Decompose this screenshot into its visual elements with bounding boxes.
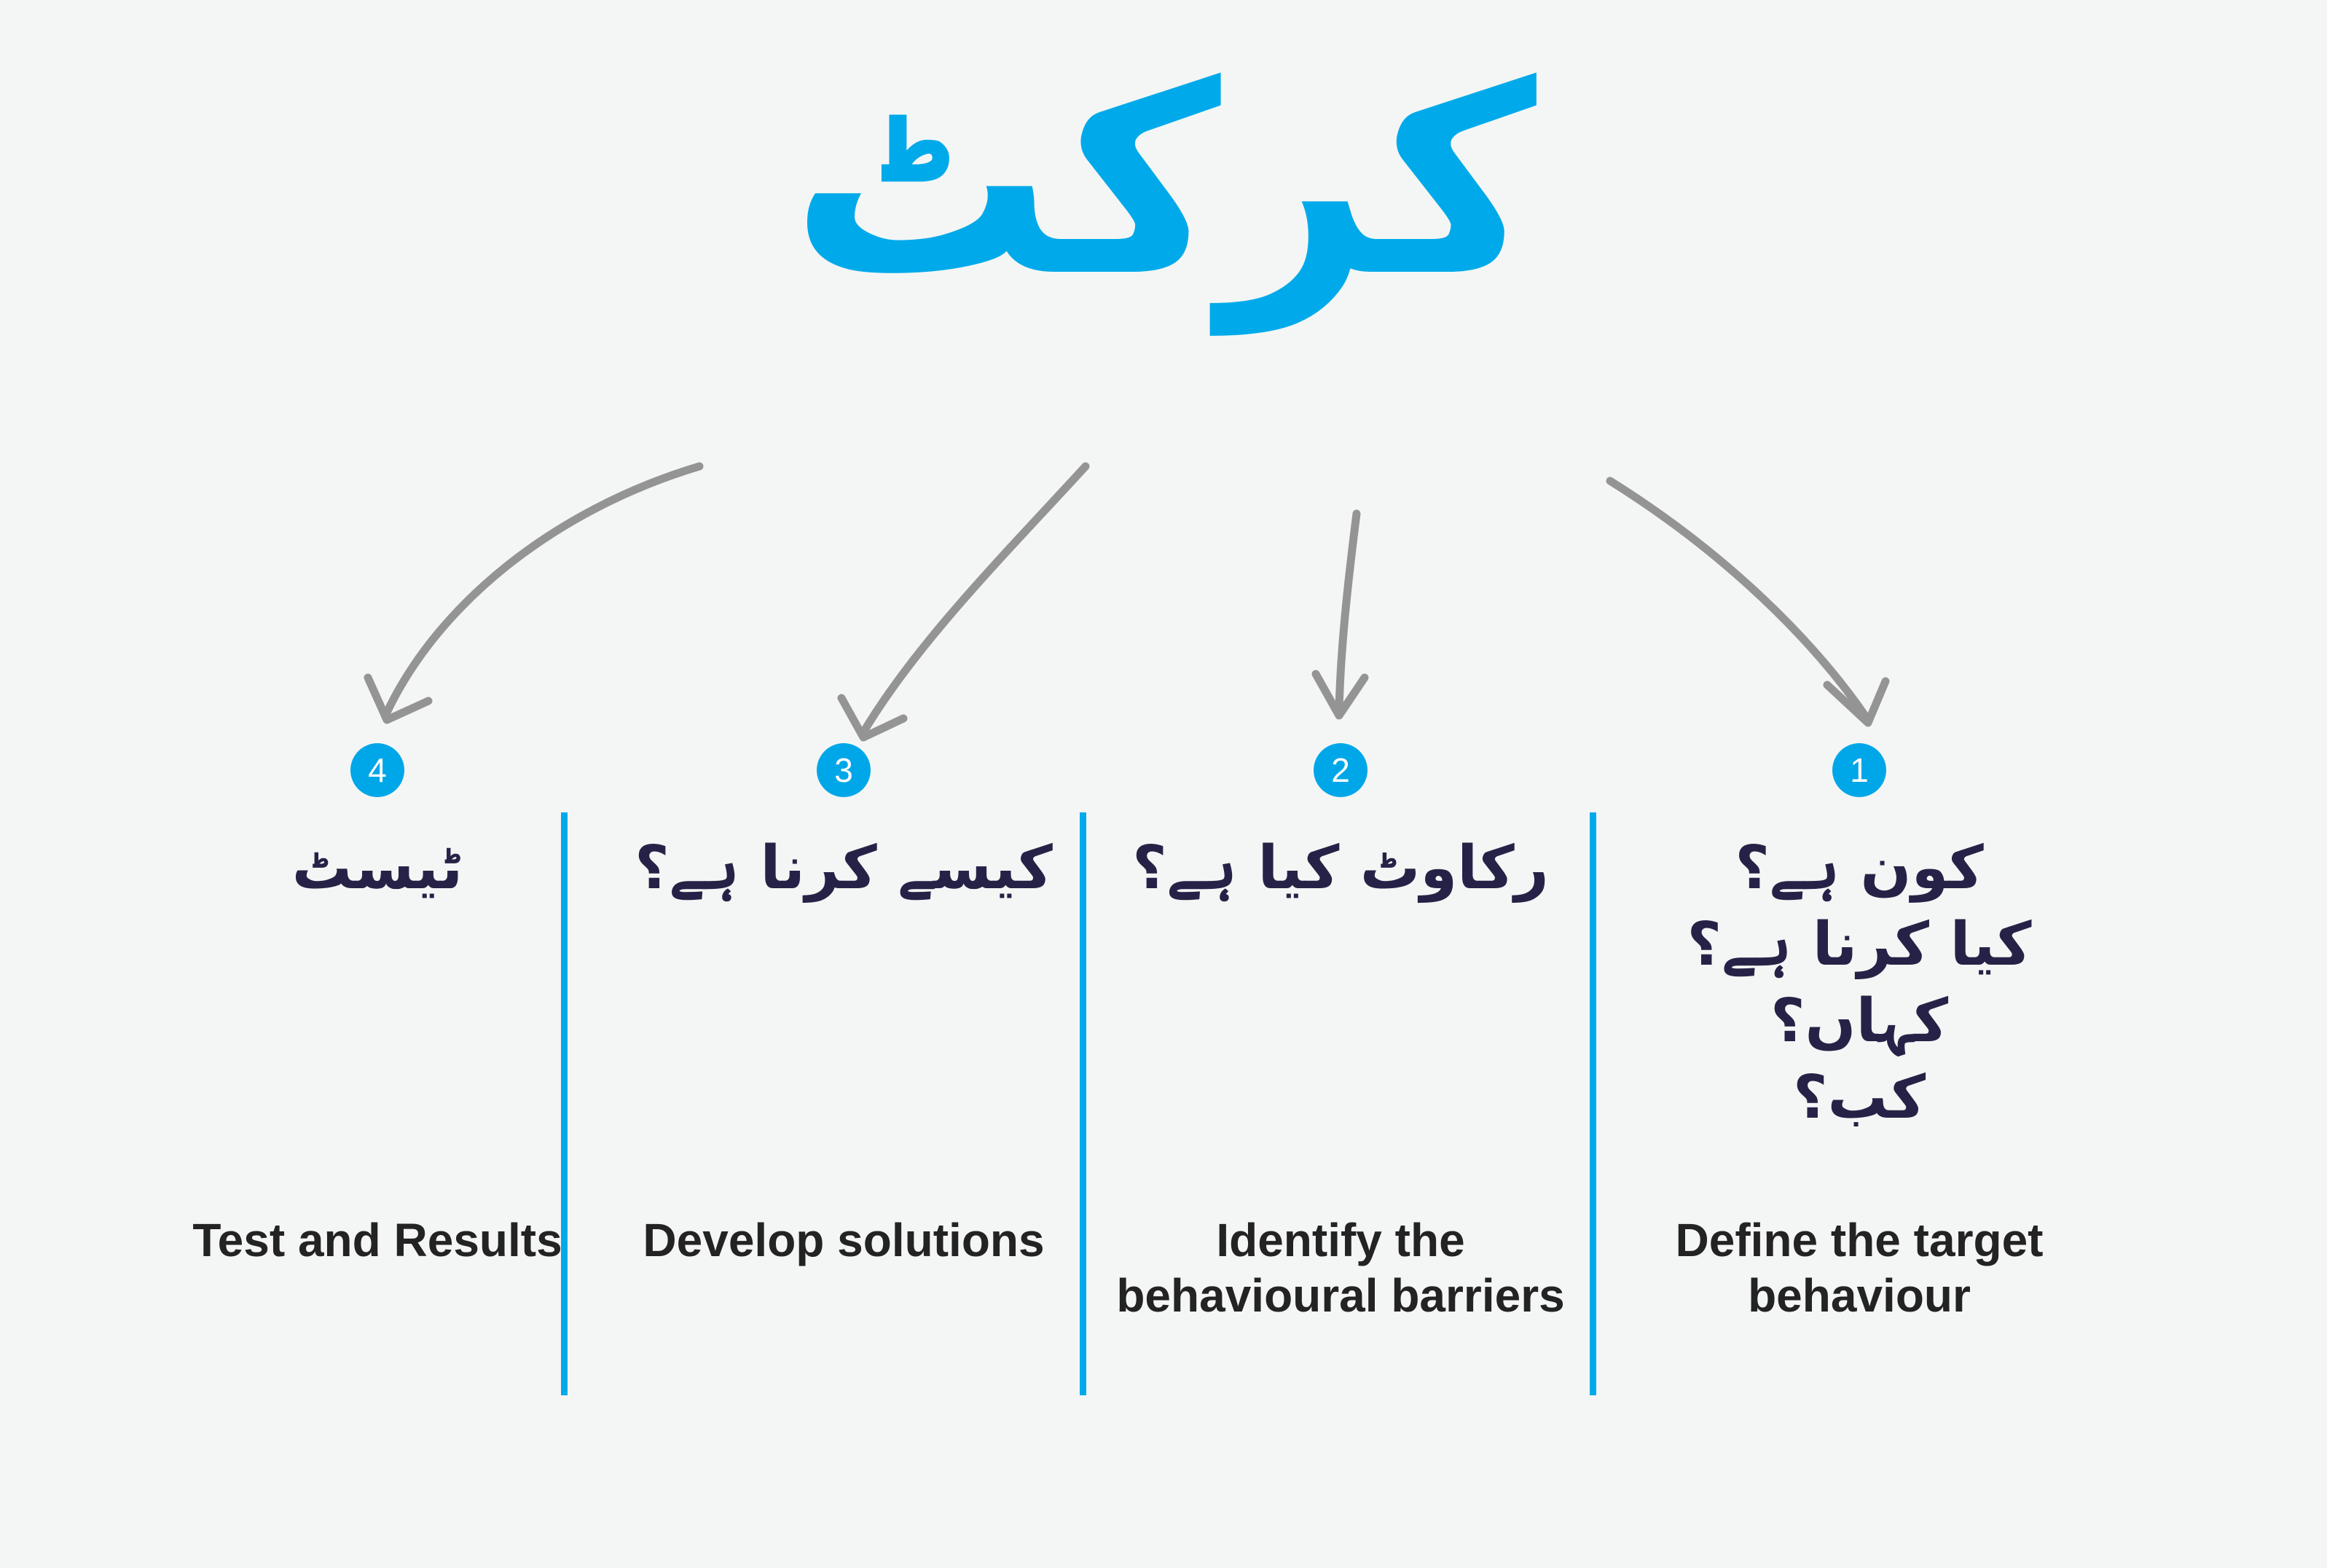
- step-urdu-line: کون ہے؟: [1687, 831, 2032, 907]
- diagram-canvas: کرکٹ .arrowline { fill:none; stroke:#949…: [0, 0, 2327, 1568]
- step-urdu-line: ٹیسٹ: [292, 831, 463, 907]
- step-column-4[interactable]: 4 ٹیسٹ: [144, 743, 611, 907]
- step-badge-4[interactable]: 4: [350, 743, 404, 797]
- step-english-2: Identify the behavioural barriers: [1107, 1213, 1574, 1323]
- step-urdu-line: کیا کرنا ہے؟: [1687, 907, 2032, 984]
- arrow-to-step-1-icon: [1610, 481, 1885, 723]
- divider-3-2: [1080, 812, 1086, 1395]
- arrow-to-step-4-icon: [368, 466, 699, 720]
- step-column-3[interactable]: 3 کیسے کرنا ہے؟: [611, 743, 1077, 907]
- step-column-2[interactable]: 2 رکاوٹ کیا ہے؟: [1107, 743, 1574, 907]
- step-urdu-line: کہاں؟: [1687, 984, 2032, 1060]
- step-urdu-line: کیسے کرنا ہے؟: [635, 831, 1053, 907]
- arrow-to-step-3-icon: [841, 466, 1086, 737]
- step-urdu-4: ٹیسٹ: [292, 831, 463, 907]
- step-english-4: Test and Results: [144, 1213, 611, 1269]
- divider-2-1: [1590, 812, 1596, 1395]
- step-urdu-2: رکاوٹ کیا ہے؟: [1132, 831, 1549, 907]
- step-urdu-1: کون ہے؟ کیا کرنا ہے؟ کہاں؟ کب؟: [1687, 831, 2032, 1137]
- step-urdu-line: کب؟: [1687, 1060, 2032, 1137]
- step-english-3: Develop solutions: [611, 1213, 1077, 1269]
- step-urdu-line: رکاوٹ کیا ہے؟: [1132, 831, 1549, 907]
- step-urdu-3: کیسے کرنا ہے؟: [635, 831, 1053, 907]
- arrow-to-step-2-icon: [1316, 514, 1365, 716]
- step-english-1: Define the target behaviour: [1626, 1213, 2092, 1323]
- page-title: کرکٹ: [0, 44, 2327, 319]
- step-badge-1[interactable]: 1: [1832, 743, 1886, 797]
- step-column-1[interactable]: 1 کون ہے؟ کیا کرنا ہے؟ کہاں؟ کب؟: [1626, 743, 2092, 1137]
- step-badge-3[interactable]: 3: [817, 743, 871, 797]
- step-badge-2[interactable]: 2: [1314, 743, 1367, 797]
